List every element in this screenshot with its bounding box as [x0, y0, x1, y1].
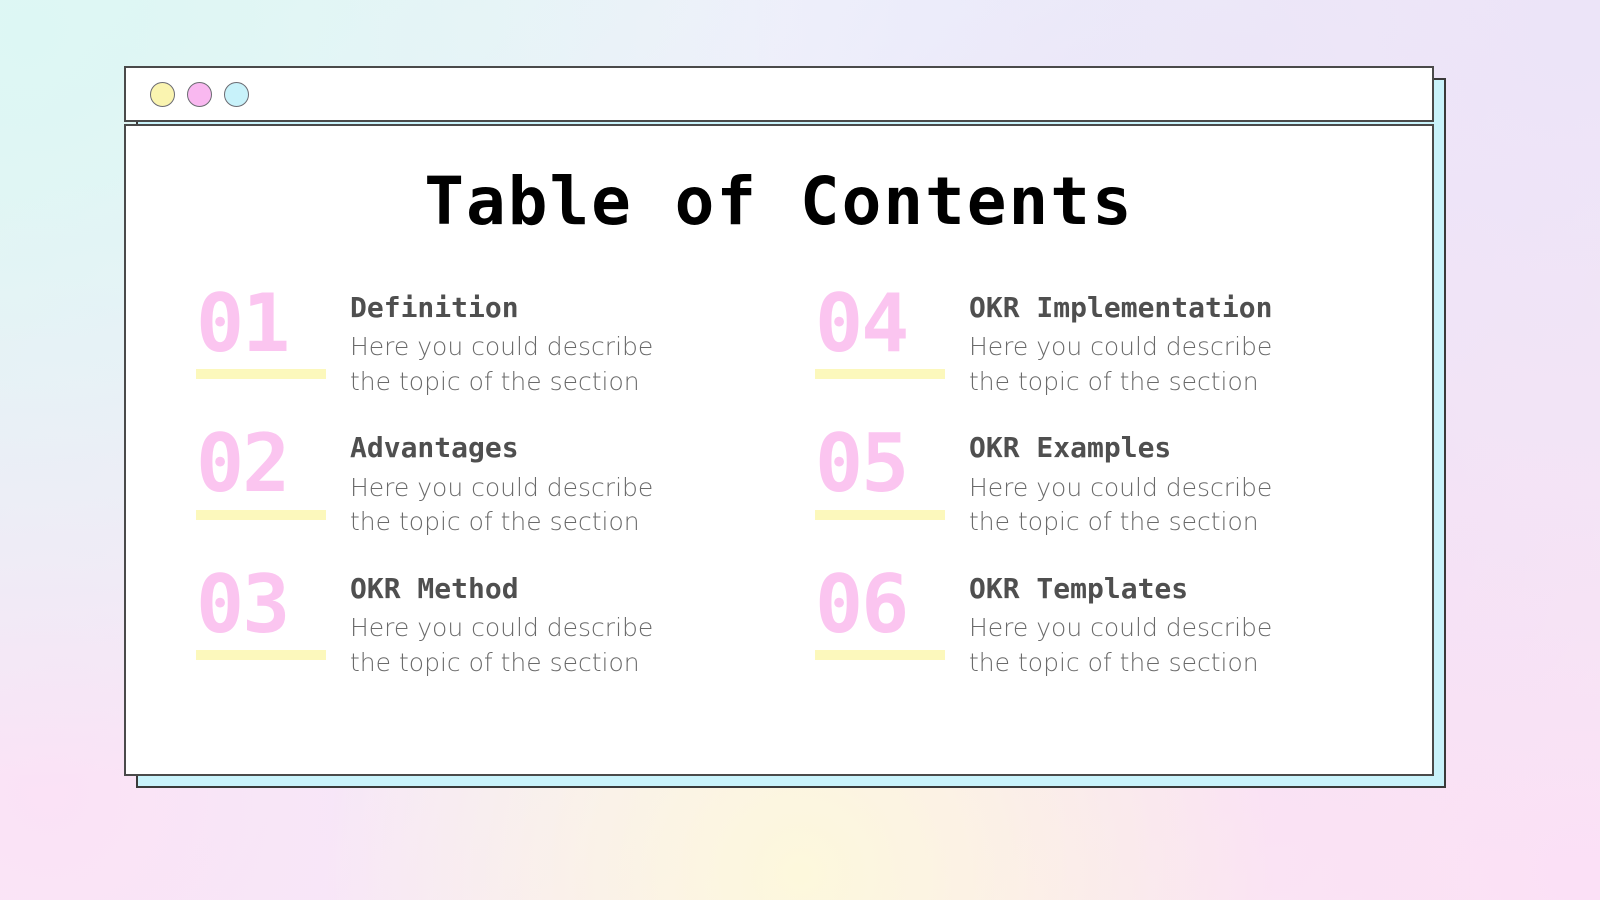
toc-text-block: OKR Method Here you could describe the t…	[350, 566, 743, 681]
toc-item-04[interactable]: 04 OKR Implementation Here you could des…	[815, 285, 1362, 400]
toc-description-line-2: the topic of the section	[350, 365, 743, 400]
toc-number-block: 06	[815, 566, 947, 660]
toc-number: 03	[196, 566, 288, 644]
slide-content: Table of Contents 01 Definition Here you…	[124, 124, 1434, 776]
toc-description-line-1: Here you could describe	[350, 330, 743, 365]
toc-accent-rule	[815, 369, 945, 379]
toc-description-line-2: the topic of the section	[969, 505, 1362, 540]
toc-text-block: OKR Examples Here you could describe the…	[969, 425, 1362, 540]
toc-number: 05	[815, 425, 907, 503]
browser-window: Table of Contents 01 Definition Here you…	[124, 66, 1434, 776]
toc-heading: OKR Examples	[969, 431, 1362, 465]
toc-description-line-2: the topic of the section	[350, 505, 743, 540]
toc-item-06[interactable]: 06 OKR Templates Here you could describe…	[815, 566, 1362, 681]
table-of-contents-grid: 01 Definition Here you could describe th…	[196, 285, 1362, 681]
toc-text-block: OKR Templates Here you could describe th…	[969, 566, 1362, 681]
toc-number-block: 02	[196, 425, 328, 519]
window-titlebar	[124, 66, 1434, 122]
toc-description-line-1: Here you could describe	[969, 611, 1362, 646]
toc-accent-rule	[815, 650, 945, 660]
toc-description-line-2: the topic of the section	[969, 646, 1362, 681]
toc-description-line-1: Here you could describe	[350, 471, 743, 506]
toc-accent-rule	[196, 650, 326, 660]
toc-description: Here you could describe the topic of the…	[969, 330, 1362, 399]
toc-accent-rule	[196, 369, 326, 379]
toc-number-block: 01	[196, 285, 328, 379]
toc-item-03[interactable]: 03 OKR Method Here you could describe th…	[196, 566, 743, 681]
toc-number: 04	[815, 285, 907, 363]
toc-item-01[interactable]: 01 Definition Here you could describe th…	[196, 285, 743, 400]
toc-description-line-1: Here you could describe	[969, 330, 1362, 365]
toc-heading: Advantages	[350, 431, 743, 465]
toc-number-block: 03	[196, 566, 328, 660]
toc-accent-rule	[196, 510, 326, 520]
toc-description-line-2: the topic of the section	[969, 365, 1362, 400]
toc-number: 06	[815, 566, 907, 644]
toc-description: Here you could describe the topic of the…	[969, 611, 1362, 680]
close-dot-icon[interactable]	[224, 82, 249, 107]
toc-number-block: 04	[815, 285, 947, 379]
toc-text-block: Definition Here you could describe the t…	[350, 285, 743, 400]
toc-heading: Definition	[350, 291, 743, 325]
toc-description: Here you could describe the topic of the…	[350, 611, 743, 680]
toc-description-line-2: the topic of the section	[350, 646, 743, 681]
toc-description: Here you could describe the topic of the…	[350, 330, 743, 399]
window-controls	[150, 82, 249, 107]
toc-heading: OKR Method	[350, 572, 743, 606]
toc-description-line-1: Here you could describe	[350, 611, 743, 646]
toc-description: Here you could describe the topic of the…	[350, 471, 743, 540]
page-title: Table of Contents	[196, 166, 1362, 239]
toc-item-05[interactable]: 05 OKR Examples Here you could describe …	[815, 425, 1362, 540]
toc-item-02[interactable]: 02 Advantages Here you could describe th…	[196, 425, 743, 540]
toc-text-block: OKR Implementation Here you could descri…	[969, 285, 1362, 400]
minimize-dot-icon[interactable]	[150, 82, 175, 107]
maximize-dot-icon[interactable]	[187, 82, 212, 107]
toc-number: 01	[196, 285, 288, 363]
toc-number-block: 05	[815, 425, 947, 519]
toc-description: Here you could describe the topic of the…	[969, 471, 1362, 540]
toc-heading: OKR Templates	[969, 572, 1362, 606]
toc-text-block: Advantages Here you could describe the t…	[350, 425, 743, 540]
toc-description-line-1: Here you could describe	[969, 471, 1362, 506]
toc-accent-rule	[815, 510, 945, 520]
toc-heading: OKR Implementation	[969, 291, 1362, 325]
toc-number: 02	[196, 425, 288, 503]
